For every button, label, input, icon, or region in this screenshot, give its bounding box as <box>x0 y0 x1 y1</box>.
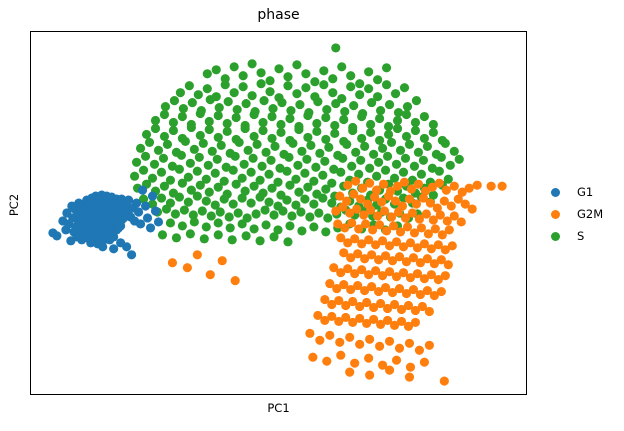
legend-item-g2m[interactable]: G2M <box>547 203 621 225</box>
x-axis-label: PC1 <box>30 401 527 415</box>
figure-canvas: phase PC1 PC2 G1 G2M S <box>0 0 624 431</box>
legend-marker-s-icon <box>551 232 560 241</box>
legend-item-g1[interactable]: G1 <box>547 181 621 203</box>
legend-label-g2m: G2M <box>577 207 603 221</box>
legend-label-g1: G1 <box>577 185 593 199</box>
scatter-plot-points <box>31 32 526 394</box>
page-title: phase <box>30 6 527 24</box>
legend-label-s: S <box>577 229 584 243</box>
legend-item-s[interactable]: S <box>547 225 621 247</box>
y-axis-label: PC2 <box>7 183 21 227</box>
plot-axes-frame <box>30 31 527 395</box>
legend-marker-g2m-icon <box>551 210 560 219</box>
legend: G1 G2M S <box>547 181 621 247</box>
legend-marker-g1-icon <box>551 188 560 197</box>
